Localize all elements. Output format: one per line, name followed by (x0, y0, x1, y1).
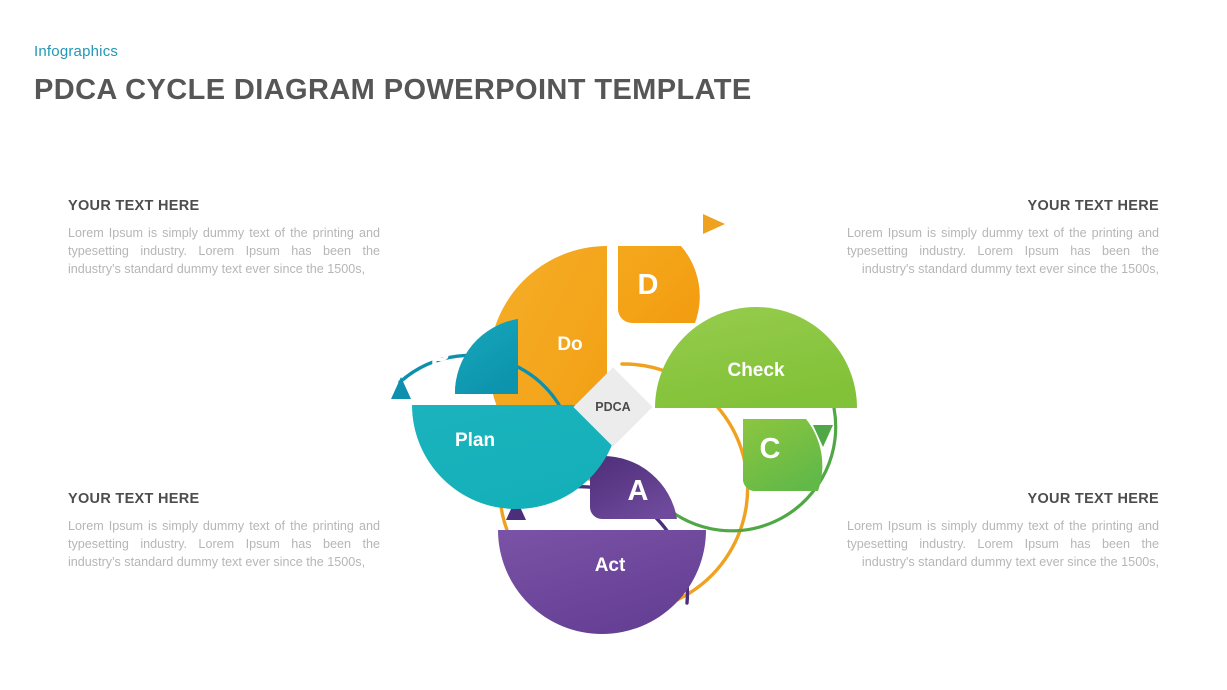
text-block-body: Lorem Ipsum is simply dummy text of the … (847, 225, 1159, 279)
text-block-body: Lorem Ipsum is simply dummy text of the … (68, 225, 380, 279)
text-block-bottom-left: YOUR TEXT HERE Lorem Ipsum is simply dum… (68, 491, 380, 572)
act-half-disc (498, 530, 706, 634)
page-title: PDCA CYCLE DIAGRAM POWERPOINT TEMPLATE (34, 75, 752, 105)
text-block-body: Lorem Ipsum is simply dummy text of the … (847, 518, 1159, 572)
text-block-body: Lorem Ipsum is simply dummy text of the … (68, 518, 380, 572)
header: Infographics PDCA CYCLE DIAGRAM POWERPOI… (34, 44, 752, 105)
plan-letter: P (430, 343, 449, 375)
act-letter: A (628, 475, 649, 507)
center-label: PDCA (595, 400, 630, 414)
text-block-top-right: YOUR TEXT HERE Lorem Ipsum is simply dum… (847, 198, 1159, 279)
text-block-top-left: YOUR TEXT HERE Lorem Ipsum is simply dum… (68, 198, 380, 279)
act-label: Act (595, 555, 626, 576)
segment-check[interactable]: Check C (655, 307, 857, 531)
text-block-title: YOUR TEXT HERE (68, 491, 380, 507)
do-letter: D (638, 269, 659, 301)
do-label: Do (557, 334, 582, 355)
plan-label: Plan (455, 430, 495, 451)
text-block-title: YOUR TEXT HERE (847, 491, 1159, 507)
text-block-bottom-right: YOUR TEXT HERE Lorem Ipsum is simply dum… (847, 491, 1159, 572)
check-label: Check (727, 360, 784, 381)
do-quarter-disc (618, 246, 700, 323)
text-block-title: YOUR TEXT HERE (847, 198, 1159, 214)
pdca-cycle-diagram: Do D Check C (370, 158, 860, 636)
text-block-title: YOUR TEXT HERE (68, 198, 380, 214)
check-letter: C (760, 433, 781, 465)
kicker-label: Infographics (34, 44, 752, 61)
